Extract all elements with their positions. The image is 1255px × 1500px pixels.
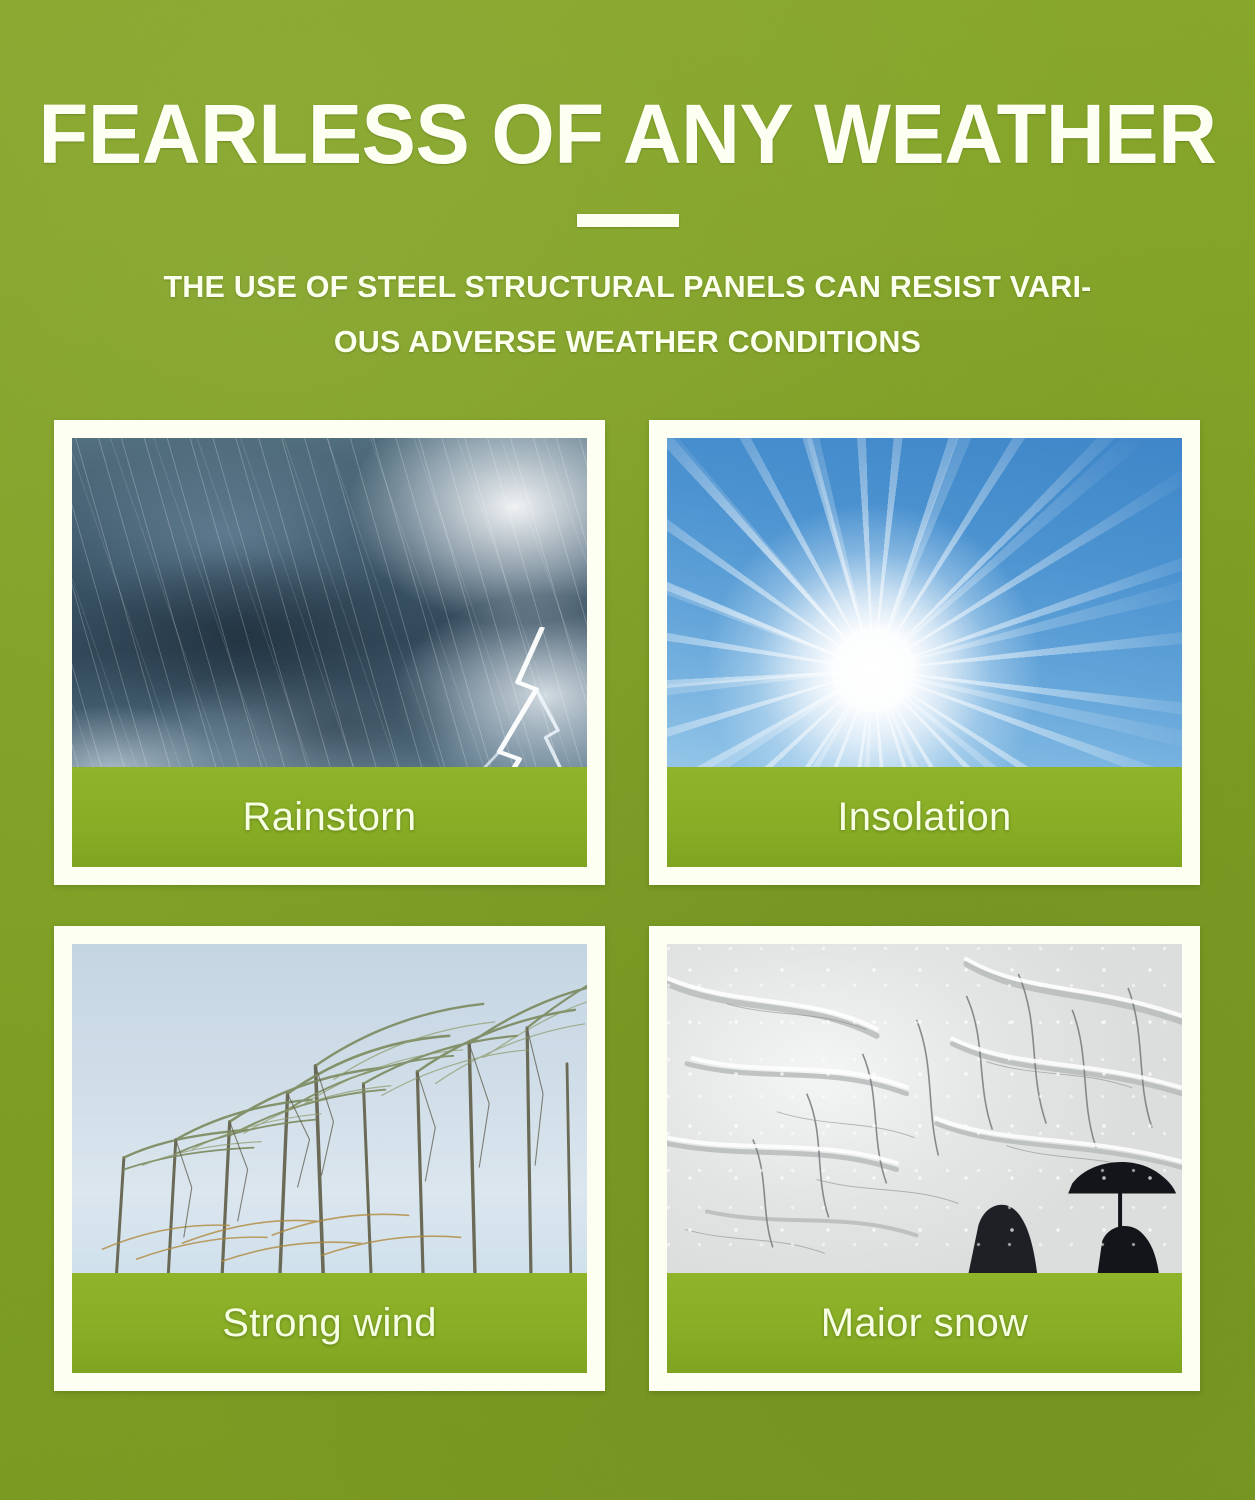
poster-subtitle: THE USE OF STEEL STRUCTURAL PANELS CAN R… [0,227,1255,370]
title-divider [577,214,679,227]
weather-feature-poster: FEARLESS OF ANY WEATHER THE USE OF STEEL… [0,0,1255,1500]
subtitle-line-2: OUS ADVERSE WEATHER CONDITIONS [0,315,1255,370]
card-caption-band: Strong wind [72,1273,587,1373]
weather-card-rainstorm[interactable]: Rainstorn [54,420,605,885]
card-image-frame: Maior snow [667,944,1182,1373]
subtitle-line-1: THE USE OF STEEL STRUCTURAL PANELS CAN R… [0,260,1255,315]
poster-header: FEARLESS OF ANY WEATHER THE USE OF STEEL… [0,0,1255,370]
card-caption-band: Maior snow [667,1273,1182,1373]
weather-card-insolation[interactable]: Insolation [649,420,1200,885]
windswept-trees-icon [72,944,587,1283]
page-title: FEARLESS OF ANY WEATHER [19,0,1236,176]
card-caption-label: Strong wind [222,1303,437,1343]
weather-card-major-snow[interactable]: Maior snow [649,926,1200,1391]
weather-card-strong-wind[interactable]: Strong wind [54,926,605,1391]
card-caption-label: Maior snow [821,1303,1029,1343]
card-image-frame: Insolation [667,438,1182,867]
card-image-frame: Strong wind [72,944,587,1373]
weather-card-grid: Rainstorn Insolation [54,420,1200,1391]
card-caption-label: Insolation [837,797,1011,837]
card-caption-label: Rainstorn [243,797,417,837]
card-caption-band: Rainstorn [72,767,587,867]
card-caption-band: Insolation [667,767,1182,867]
card-image-frame: Rainstorn [72,438,587,867]
